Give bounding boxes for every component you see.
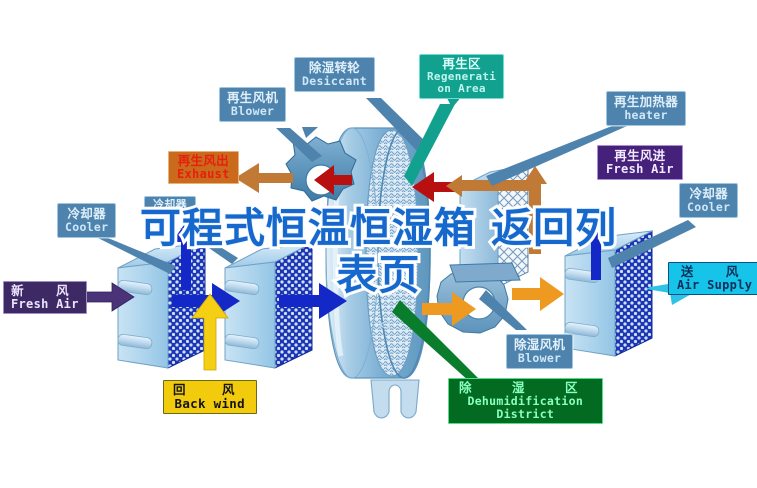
label-regeneration-area-cn: 再生区: [427, 57, 496, 71]
label-cooler-left-en: Cooler: [65, 221, 108, 234]
label-dehumidification-district: 除 湿 区 Dehumidification District: [448, 378, 603, 424]
label-fresh-air: 新 风 Fresh Air: [3, 281, 87, 314]
label-dehumidification-blower-en: Blower: [514, 352, 565, 365]
label-back-wind-cn: 回 风: [173, 383, 247, 397]
label-cooler-left: 冷却器 Cooler: [57, 203, 116, 238]
label-regeneration-heater: 再生加热器 heater: [606, 91, 686, 126]
drip-tray: [371, 380, 419, 418]
label-regeneration-area-en-2: on Area: [427, 83, 496, 95]
label-air-supply: 送 风 Air Supply: [668, 262, 757, 295]
label-desiccant-wheel-cn: 除湿转轮: [302, 61, 367, 75]
label-cooler-right-cn: 冷却器: [687, 187, 730, 201]
label-exhaust-cn: 再生风出: [177, 154, 230, 168]
arrow-dehum-out-2: [512, 277, 564, 311]
label-exhaust-en: Exhaust: [177, 168, 230, 181]
label-desiccant-wheel-en: Desiccant: [302, 75, 367, 88]
rotor-faint-watermark: x1: [378, 318, 393, 331]
label-regeneration-area: 再生区 Regenerati on Area: [419, 54, 504, 99]
label-cooler-mid-cn: 冷却器: [153, 199, 187, 211]
label-regeneration-heater-cn: 再生加热器: [614, 95, 678, 109]
label-cooler-right-en: Cooler: [687, 201, 730, 214]
label-regeneration-fresh-air-cn: 再生风进: [606, 149, 674, 163]
label-dehumidification-district-en-1: Dehumidification: [459, 395, 592, 408]
dehumidifier-schematic-image: 除湿转轮 Desiccant 再生风机 Blower 再生区 Regenerat…: [0, 0, 757, 488]
label-cooler-left-cn: 冷却器: [65, 207, 108, 221]
label-regeneration-blower-en: Blower: [227, 105, 278, 118]
arrow-exhaust-out: [235, 163, 293, 193]
label-desiccant-wheel: 除湿转轮 Desiccant: [294, 57, 375, 92]
label-exhaust: 再生风出 Exhaust: [168, 151, 239, 184]
label-regeneration-fresh-air-en: Fresh Air: [606, 163, 674, 176]
label-back-wind: 回 风 Back wind: [163, 380, 257, 414]
label-regeneration-fresh-air: 再生风进 Fresh Air: [597, 145, 683, 180]
label-dehumidification-blower: 除湿风机 Blower: [506, 334, 573, 369]
label-fresh-air-cn: 新 风: [11, 284, 79, 298]
label-regeneration-blower: 再生风机 Blower: [219, 87, 286, 122]
label-dehumidification-district-cn: 除 湿 区: [459, 381, 592, 395]
label-regeneration-blower-cn: 再生风机: [227, 91, 278, 105]
schematic-drawing: [0, 0, 757, 488]
label-dehumidification-district-en-2: District: [459, 408, 592, 421]
label-back-wind-en: Back wind: [173, 397, 247, 411]
label-regeneration-heater-en: heater: [614, 109, 678, 122]
label-air-supply-en: Air Supply: [677, 279, 752, 292]
label-dehumidification-blower-cn: 除湿风机: [514, 338, 565, 352]
label-cooler-right: 冷却器 Cooler: [679, 183, 738, 218]
label-cooler-mid: 冷却器: [144, 196, 196, 214]
label-fresh-air-en: Fresh Air: [11, 298, 79, 311]
label-air-supply-cn: 送 风: [677, 265, 752, 279]
